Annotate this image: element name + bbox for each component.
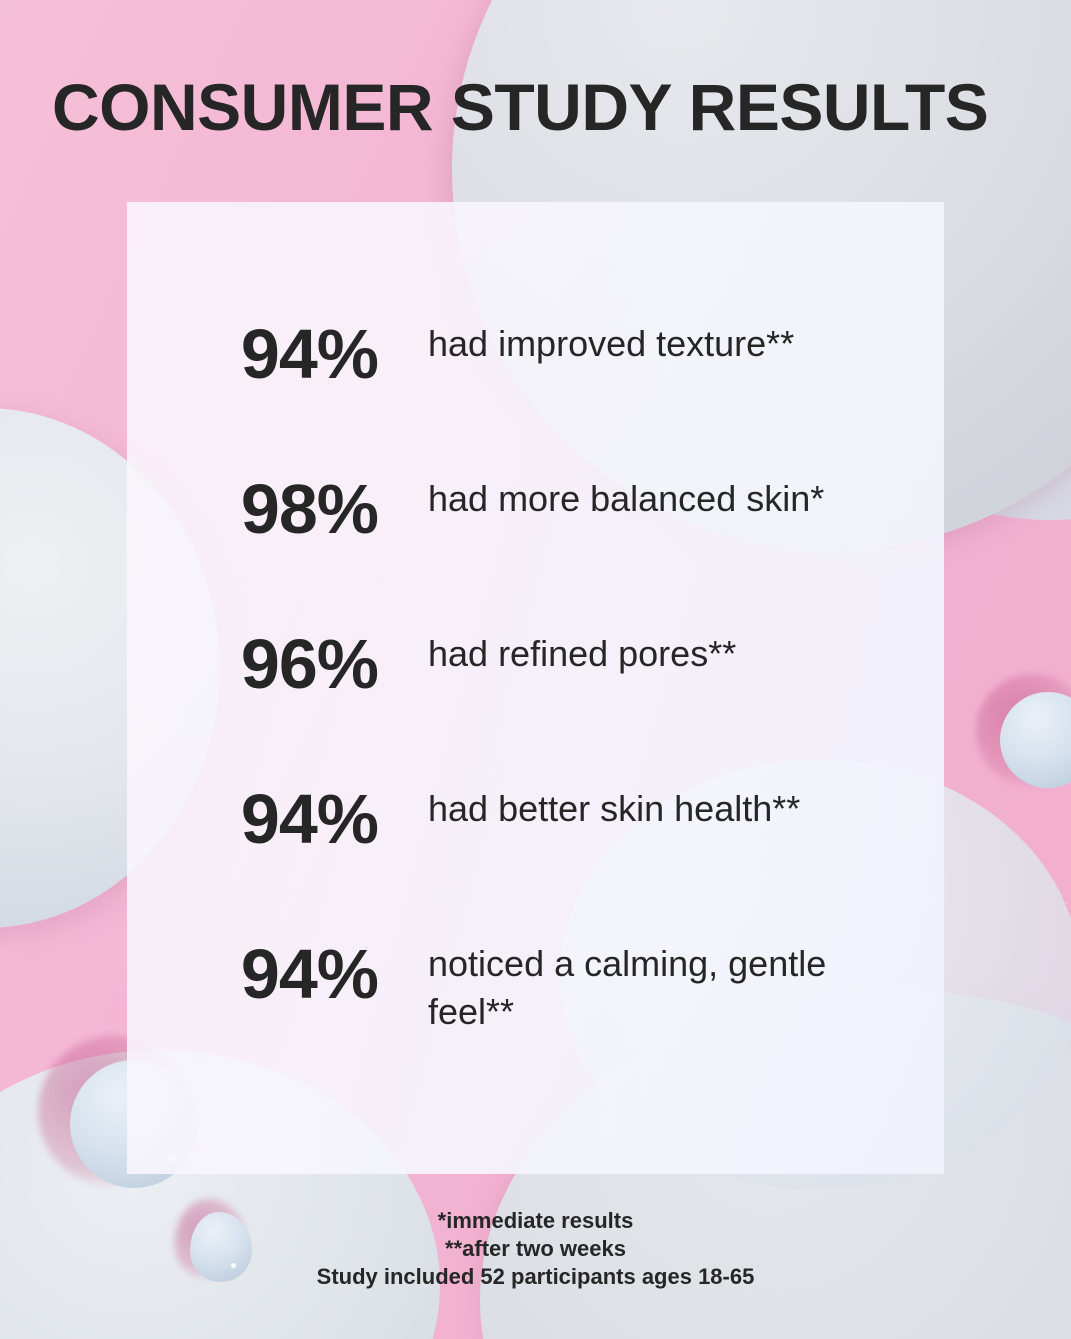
footnote-after-two-weeks: **after two weeks	[0, 1235, 1071, 1263]
results-panel: 94% had improved texture** 98% had more …	[127, 202, 944, 1174]
stat-value: 94%	[127, 785, 378, 854]
stat-label: had better skin health**	[428, 785, 800, 833]
footnote-study-participants: Study included 52 participants ages 18-6…	[0, 1263, 1071, 1291]
stat-row: 94% noticed a calming, gentle feel**	[127, 940, 944, 1095]
stat-row: 94% had better skin health**	[127, 785, 944, 940]
stat-row: 98% had more balanced skin*	[127, 475, 944, 630]
stat-value: 98%	[127, 475, 378, 544]
footnote-immediate-results: *immediate results	[0, 1207, 1071, 1235]
water-droplet-right	[1000, 692, 1071, 788]
stat-label: had refined pores**	[428, 630, 736, 678]
stat-value: 96%	[127, 630, 378, 699]
stat-label: had improved texture**	[428, 320, 794, 368]
stat-row: 96% had refined pores**	[127, 630, 944, 785]
consumer-study-results-graphic: CONSUMER STUDY RESULTS 94% had improved …	[0, 0, 1071, 1339]
stats-list: 94% had improved texture** 98% had more …	[127, 320, 944, 1095]
stat-label: noticed a calming, gentle feel**	[428, 940, 898, 1036]
stat-value: 94%	[127, 320, 378, 389]
stat-row: 94% had improved texture**	[127, 320, 944, 475]
stat-label: had more balanced skin*	[428, 475, 824, 523]
page-title: CONSUMER STUDY RESULTS	[52, 74, 1032, 140]
stat-value: 94%	[127, 940, 378, 1009]
footnotes: *immediate results **after two weeks Stu…	[0, 1207, 1071, 1291]
